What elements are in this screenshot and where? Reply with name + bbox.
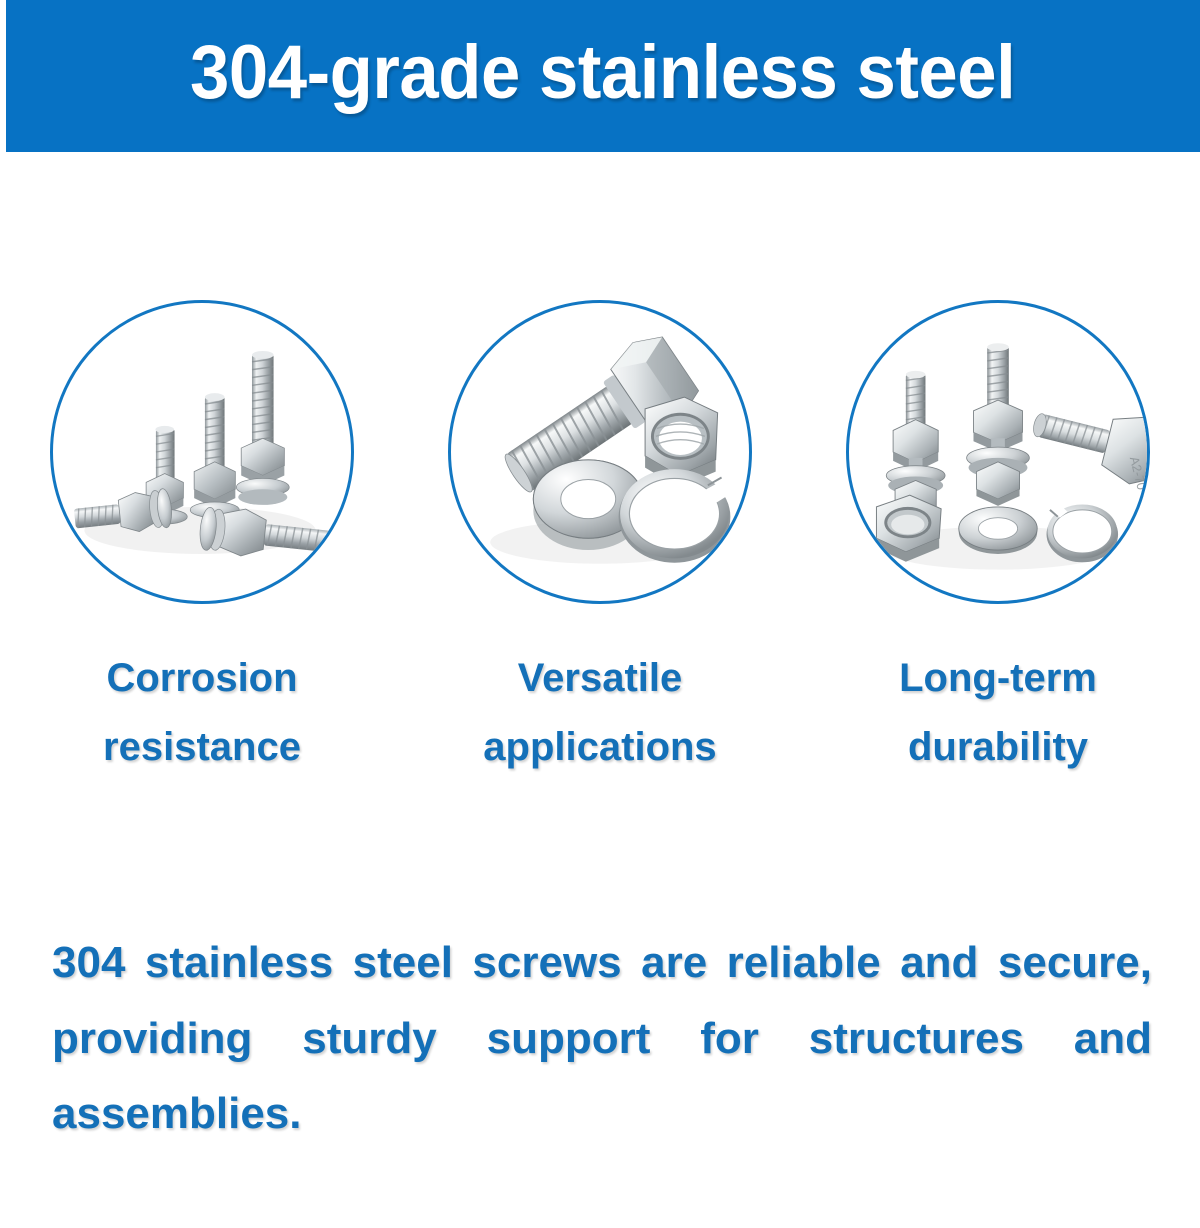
feature-image-circle-3: A2-70 (846, 300, 1150, 604)
feature-caption-3-line-1: Long-term (899, 656, 1097, 700)
feature-caption-3-line-2: durability (908, 725, 1088, 769)
feature-caption-2: Versatile applications (435, 644, 765, 782)
feature-row: Corrosion resistance (0, 300, 1200, 782)
feature-long-term-durability: A2-70 (818, 300, 1178, 782)
feature-caption-1: Corrosion resistance (37, 644, 367, 782)
feature-caption-1-line-1: Corrosion (106, 656, 297, 700)
feature-caption-3: Long-term durability (833, 644, 1163, 782)
feature-corrosion-resistance: Corrosion resistance (22, 300, 382, 782)
feature-versatile-applications: Versatile applications (420, 300, 780, 782)
feature-caption-1-line-2: resistance (103, 725, 301, 769)
feature-image-circle-2 (448, 300, 752, 604)
hex-bolt-cluster-icon (53, 303, 351, 601)
page-title: 304-grade stainless steel (190, 35, 1015, 117)
feature-caption-2-line-1: Versatile (518, 656, 683, 700)
bolt-assembly-icon: A2-70 (849, 303, 1147, 601)
feature-image-circle-1 (50, 300, 354, 604)
summary-paragraph: 304 stainless steel screws are reliable … (52, 925, 1152, 1228)
hex-bolt-nut-washer-icon (451, 303, 749, 601)
feature-caption-2-line-2: applications (483, 725, 716, 769)
header-banner: 304-grade stainless steel (6, 0, 1200, 152)
